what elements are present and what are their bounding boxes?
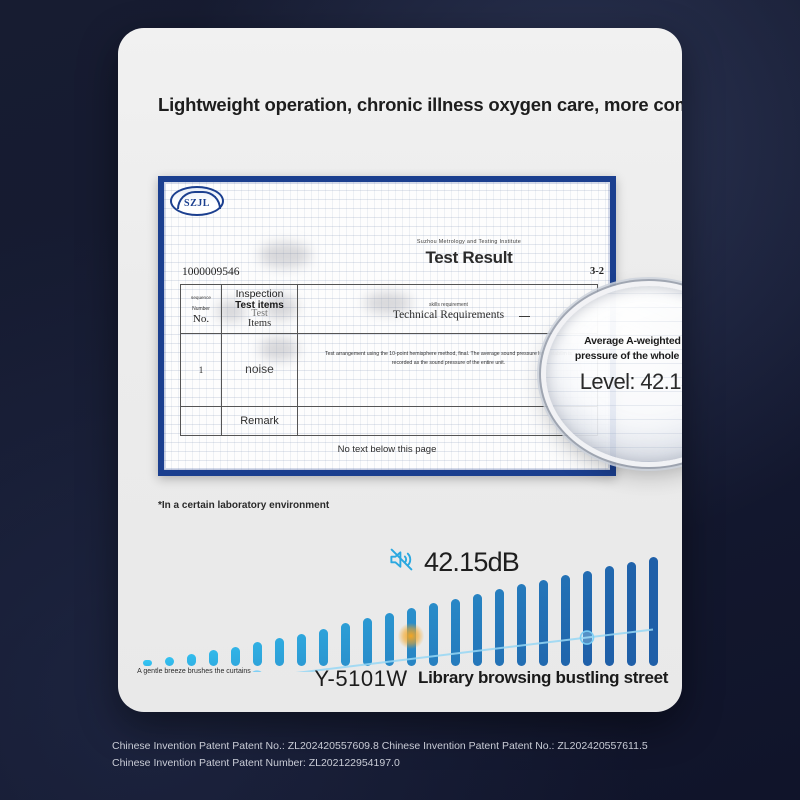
page-marker: 3-2 — [590, 266, 604, 277]
remark-dash — [519, 316, 530, 317]
patent-notice: Chinese Invention Patent Patent No.: ZL2… — [112, 738, 712, 772]
table-row-number: 1 — [181, 334, 221, 406]
table-header-sequence: sequence Number No. — [181, 285, 221, 333]
chart-caption-left: A gentle breeze brushes the curtains — [128, 666, 260, 677]
certificate-footer-note: No text below this page — [164, 444, 610, 455]
table-header-requirements: skills requirement Technical Requirement… — [298, 285, 599, 333]
chart-caption-middle: Y-5101W — [286, 666, 436, 692]
chart-trendline — [136, 538, 664, 672]
page-title: Lightweight operation, chronic illness o… — [158, 94, 658, 116]
institute-name: Suzhou Metrology and Testing Institute — [354, 239, 584, 245]
szjl-logo: SZJL — [170, 186, 224, 216]
table-header-test-items: Inspection Test items Test Items — [222, 285, 297, 333]
test-report-certificate: SZJL Suzhou Metrology and Testing Instit… — [158, 176, 616, 476]
table-row-remark: Remark — [222, 407, 297, 436]
test-result-table: sequence Number No. Inspection Test item… — [180, 284, 598, 436]
patent-line-1: Chinese Invention Patent Patent No.: ZL2… — [112, 738, 712, 755]
patent-line-2: Chinese Invention Patent Patent Number: … — [112, 755, 712, 772]
lab-environment-footnote: *In a certain laboratory environment — [158, 500, 329, 511]
scan-smudge — [259, 242, 311, 268]
szjl-logo-text: SZJL — [170, 198, 224, 209]
certificate-number: 1000009546 — [182, 266, 240, 278]
chart-caption-right: Library browsing bustling street — [418, 668, 668, 688]
table-row-requirement: Test arrangement using the 10-point hemi… — [298, 334, 599, 406]
chart-trend-marker — [581, 631, 594, 644]
table-row-item: noise — [222, 334, 297, 406]
product-info-card: Lightweight operation, chronic illness o… — [118, 28, 682, 712]
certificate-title: Test Result — [354, 248, 584, 268]
